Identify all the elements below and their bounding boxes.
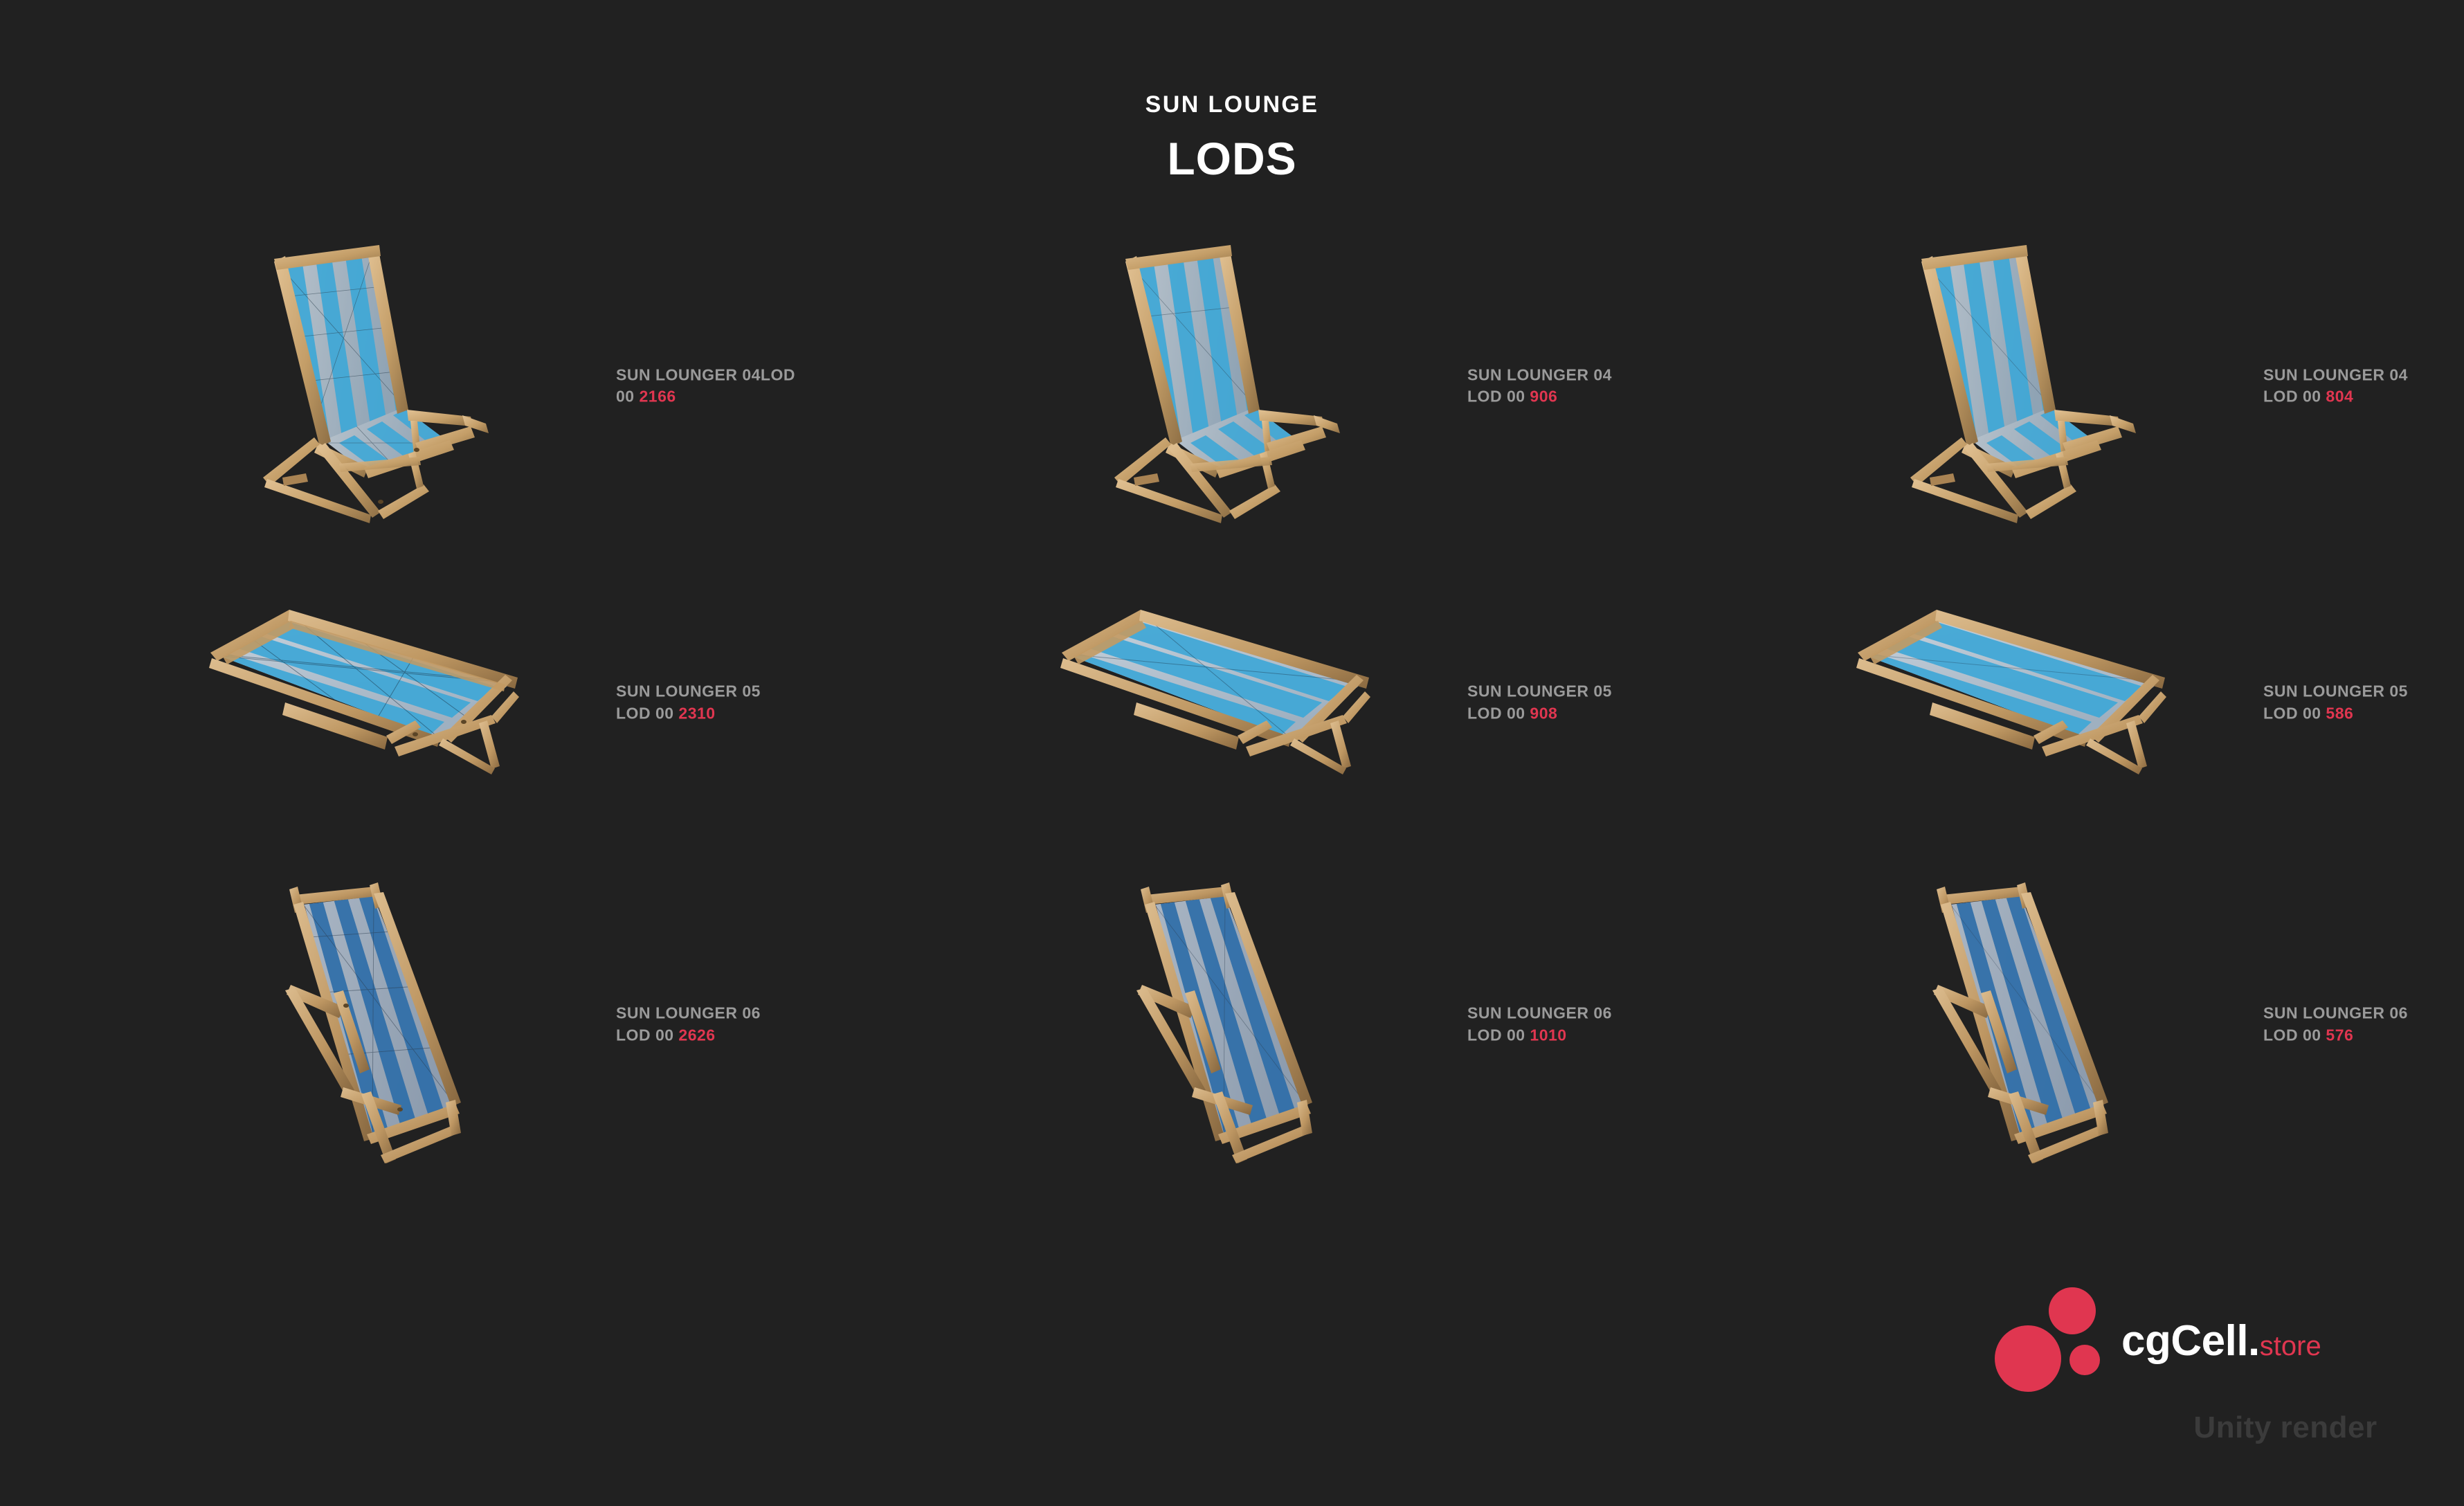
lod-prefix: LOD 00: [1467, 1026, 1530, 1044]
lod-caption: SUN LOUNGER 04 LOD 00 804: [2263, 364, 2464, 408]
lod-line: LOD 00 576: [2263, 1024, 2464, 1046]
model-render-sun-lounger-06: [1827, 862, 2270, 1187]
model-render-sun-lounger-06: [180, 862, 623, 1187]
lod-cell[interactable]: SUN LOUNGER 06 LOD 00 2626: [180, 862, 941, 1187]
page-header: SUN LOUNGE LODS: [0, 0, 2464, 181]
lod-prefix: LOD 00: [1467, 704, 1530, 722]
lod-row-sun-lounger-05: SUN LOUNGER 05 LOD 00 2310: [0, 543, 2464, 862]
page-title: LODS: [0, 136, 2464, 181]
model-name: SUN LOUNGER 05: [1467, 680, 1772, 702]
triangle-count: 586: [2326, 704, 2353, 722]
model-name: SUN LOUNGER 04LOD: [616, 364, 921, 386]
logo-dot-large-icon: [1995, 1325, 2061, 1392]
model-render-sun-lounger-04: [1827, 228, 2270, 543]
lod-prefix: LOD 00: [616, 704, 678, 722]
lod-caption: SUN LOUNGER 04 LOD 00 906: [1467, 364, 1772, 408]
lod-prefix: LOD 00: [2263, 388, 2326, 406]
lod-caption: SUN LOUNGER 05 LOD 00 2310: [616, 680, 921, 724]
triangle-count: 576: [2326, 1026, 2353, 1044]
lod-grid: SUN LOUNGER 04LOD 00 2166: [0, 228, 2464, 1187]
lod-cell[interactable]: SUN LOUNGER 04 LOD 00 804: [1827, 228, 2464, 543]
lod-line: LOD 00 908: [1467, 702, 1772, 725]
lod-caption: SUN LOUNGER 05 LOD 00 586: [2263, 680, 2464, 724]
logo-brand-tld: store: [2260, 1331, 2321, 1361]
lod-cell[interactable]: SUN LOUNGER 06 LOD 00 576: [1827, 862, 2464, 1187]
lod-line: LOD 00 2626: [616, 1024, 921, 1046]
lod-caption: SUN LOUNGER 06 LOD 00 2626: [616, 1002, 921, 1046]
lod-prefix: LOD 00: [1467, 388, 1530, 406]
triangle-count: 2166: [639, 388, 676, 406]
model-name: SUN LOUNGER 04: [1467, 364, 1772, 386]
lod-caption: SUN LOUNGER 06 LOD 00 1010: [1467, 1002, 1772, 1046]
lod-line: LOD 00 586: [2263, 702, 2464, 725]
logo-wordmark: cgCell.store: [2121, 1320, 2321, 1363]
model-render-sun-lounger-04: [1031, 228, 1474, 543]
lod-prefix: 00: [616, 388, 639, 406]
model-render-sun-lounger-05: [1827, 543, 2270, 862]
model-render-sun-lounger-04: [180, 228, 623, 543]
model-name: SUN LOUNGER 06: [1467, 1002, 1772, 1024]
logo-dot-medium-icon: [2049, 1287, 2096, 1334]
lod-caption: SUN LOUNGER 05 LOD 00 908: [1467, 680, 1772, 724]
render-engine-watermark: Unity render: [2193, 1410, 2377, 1445]
lod-prefix: LOD 00: [616, 1026, 678, 1044]
logo-brand-name: cgCell.: [2121, 1317, 2260, 1365]
cgcell-dots-icon: [1986, 1284, 2132, 1401]
lod-row-sun-lounger-06: SUN LOUNGER 06 LOD 00 2626: [0, 862, 2464, 1187]
brand-logo[interactable]: cgCell.store Unity render: [1986, 1284, 2429, 1478]
lod-line: LOD 00 2310: [616, 702, 921, 725]
lod-cell[interactable]: SUN LOUNGER 05 LOD 00 586: [1827, 543, 2464, 862]
lod-cell[interactable]: SUN LOUNGER 06 LOD 00 1010: [1031, 862, 1779, 1187]
triangle-count: 804: [2326, 388, 2353, 406]
model-render-sun-lounger-05: [1031, 543, 1474, 862]
lod-line: LOD 00 804: [2263, 386, 2464, 408]
lod-cell[interactable]: SUN LOUNGER 05 LOD 00 2310: [180, 543, 941, 862]
model-name: SUN LOUNGER 06: [2263, 1002, 2464, 1024]
lod-cell[interactable]: SUN LOUNGER 05 LOD 00 908: [1031, 543, 1779, 862]
model-name: SUN LOUNGER 06: [616, 1002, 921, 1024]
triangle-count: 2310: [678, 704, 715, 722]
lod-line: 00 2166: [616, 386, 921, 408]
model-render-sun-lounger-05: [180, 543, 623, 862]
triangle-count: 1010: [1530, 1026, 1566, 1044]
lod-cell[interactable]: SUN LOUNGER 04LOD 00 2166: [180, 228, 941, 543]
triangle-count: 908: [1530, 704, 1557, 722]
lod-row-sun-lounger-04: SUN LOUNGER 04LOD 00 2166: [0, 228, 2464, 543]
lod-cell[interactable]: SUN LOUNGER 04 LOD 00 906: [1031, 228, 1779, 543]
triangle-count: 906: [1530, 388, 1557, 406]
model-name: SUN LOUNGER 05: [616, 680, 921, 702]
logo-dot-small-icon: [2069, 1345, 2100, 1375]
lod-line: LOD 00 906: [1467, 386, 1772, 408]
lod-line: LOD 00 1010: [1467, 1024, 1772, 1046]
lod-prefix: LOD 00: [2263, 1026, 2326, 1044]
model-name: SUN LOUNGER 05: [2263, 680, 2464, 702]
lod-prefix: LOD 00: [2263, 704, 2326, 722]
triangle-count: 2626: [678, 1026, 715, 1044]
lod-caption: SUN LOUNGER 06 LOD 00 576: [2263, 1002, 2464, 1046]
page-subtitle: SUN LOUNGE: [0, 93, 2464, 116]
model-name: SUN LOUNGER 04: [2263, 364, 2464, 386]
lod-caption: SUN LOUNGER 04LOD 00 2166: [616, 364, 921, 408]
model-render-sun-lounger-06: [1031, 862, 1474, 1187]
